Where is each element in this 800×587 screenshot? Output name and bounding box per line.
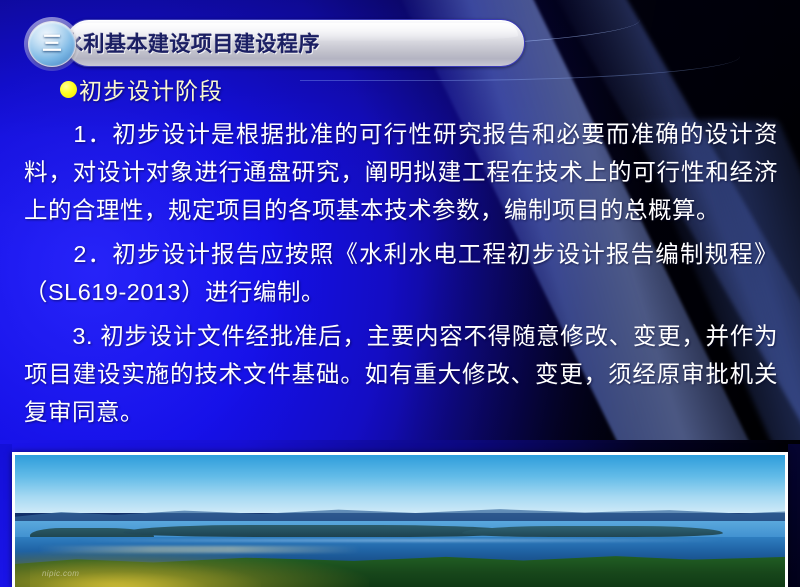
section-heading-label: 初步设计阶段 bbox=[79, 72, 223, 106]
landscape-photo-image: nipic.com bbox=[15, 455, 785, 587]
section-number-badge: 三 bbox=[28, 21, 76, 67]
section-heading: 初步设计阶段 bbox=[0, 74, 800, 104]
slide-title-bar: 三 水利基本建设项目建设程序 bbox=[28, 19, 525, 67]
bullet-circle-icon bbox=[60, 81, 77, 98]
body-paragraph-1: 1．初步设计是根据批准的可行性研究报告和必要而准确的设计资料，对设计对象进行通盘… bbox=[0, 115, 800, 229]
photo-sky bbox=[15, 455, 785, 513]
section-number-label: 三 bbox=[42, 34, 62, 54]
slide-content: 初步设计阶段 1．初步设计是根据批准的可行性研究报告和必要而准确的设计资料，对设… bbox=[0, 74, 800, 431]
photo-water-shimmer bbox=[77, 539, 724, 542]
page-title: 水利基本建设项目建设程序 bbox=[62, 28, 320, 58]
photo-top-strip bbox=[0, 440, 800, 452]
photo-left-margin bbox=[0, 444, 12, 587]
photo-watermark: nipic.com bbox=[42, 569, 79, 578]
landscape-photo: nipic.com bbox=[12, 452, 788, 587]
photo-right-margin bbox=[788, 444, 800, 587]
photo-island-right bbox=[462, 526, 724, 537]
slide-canvas: 三 水利基本建设项目建设程序 初步设计阶段 1．初步设计是根据批准的可行性研究报… bbox=[0, 0, 800, 587]
body-paragraph-2: 2．初步设计报告应按照《水利水电工程初步设计报告编制规程》（SL619-2013… bbox=[0, 235, 800, 311]
body-paragraph-3: 3. 初步设计文件经批准后，主要内容不得随意修改、变更，并作为项目建设实施的技术… bbox=[0, 317, 800, 431]
